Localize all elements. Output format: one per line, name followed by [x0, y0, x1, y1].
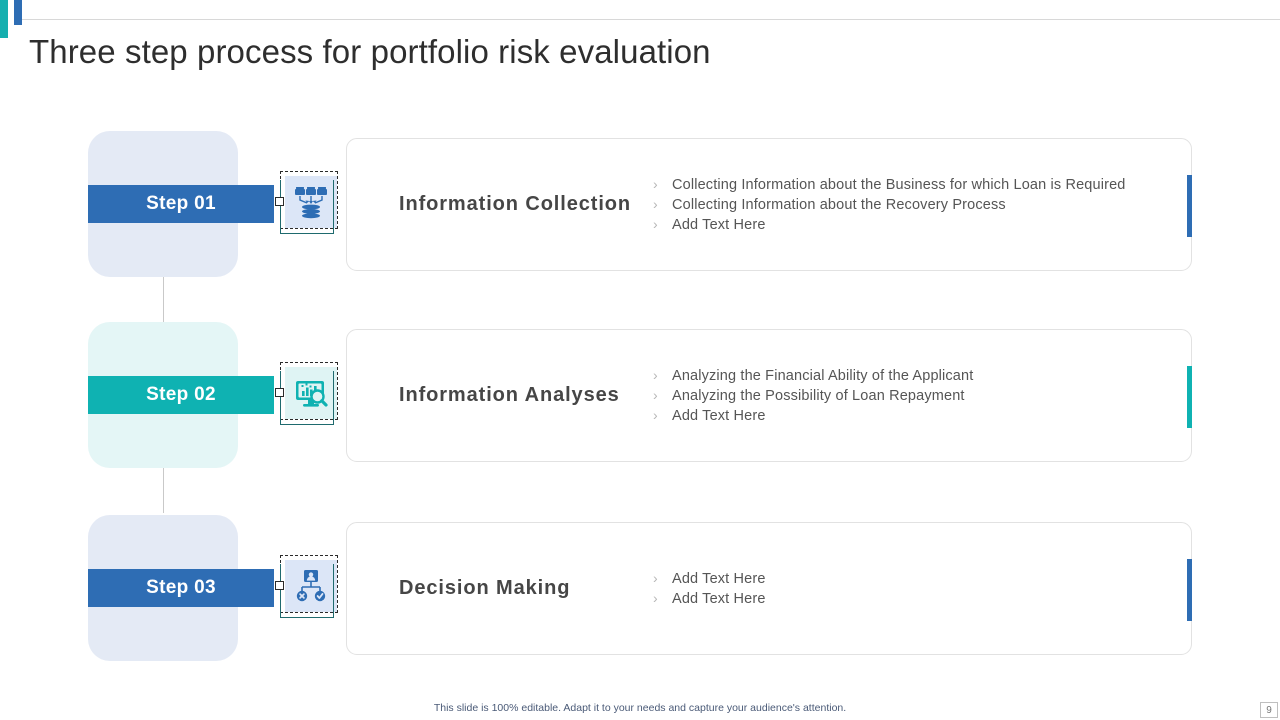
- chevron-right-icon: ›: [653, 406, 672, 425]
- list-item: › Add Text Here: [653, 406, 1191, 426]
- step-badge-label-2: Step 02: [146, 384, 216, 406]
- page-title: Three step process for portfolio risk ev…: [29, 33, 711, 71]
- bullet-text: Add Text Here: [672, 570, 766, 589]
- icon-resize-handle-1[interactable]: [275, 197, 284, 206]
- step-badge-label-1: Step 01: [146, 193, 216, 215]
- icon-resize-handle-3[interactable]: [275, 581, 284, 590]
- list-item: › Add Text Here: [653, 569, 1191, 589]
- footer-note: This slide is 100% editable. Adapt it to…: [0, 702, 1280, 714]
- step-icon-container-3[interactable]: [285, 560, 337, 612]
- step-content-card-1: Information Collection › Collecting Info…: [346, 138, 1192, 271]
- chevron-right-icon: ›: [653, 175, 672, 194]
- icon-selection-solid-border-1: [280, 180, 334, 234]
- chevron-right-icon: ›: [653, 569, 672, 588]
- step-bullet-list-1: › Collecting Information about the Busin…: [647, 175, 1191, 235]
- step-content-card-3: Decision Making › Add Text Here › Add Te…: [346, 522, 1192, 655]
- step-content-card-2: Information Analyses › Analyzing the Fin…: [346, 329, 1192, 462]
- list-item: › Analyzing the Financial Ability of the…: [653, 366, 1191, 386]
- bullet-text: Analyzing the Financial Ability of the A…: [672, 367, 973, 386]
- header-divider: [22, 19, 1280, 20]
- list-item: › Add Text Here: [653, 589, 1191, 609]
- list-item: › Analyzing the Possibility of Loan Repa…: [653, 386, 1191, 406]
- bullet-text: Add Text Here: [672, 407, 766, 426]
- step-badge-2[interactable]: Step 02: [88, 376, 274, 414]
- bullet-text: Collecting Information about the Recover…: [672, 196, 1006, 215]
- chevron-right-icon: ›: [653, 589, 672, 608]
- list-item: › Collecting Information about the Busin…: [653, 175, 1191, 195]
- page-number: 9: [1260, 702, 1278, 718]
- header-accent-bar-blue: [14, 0, 22, 25]
- card-accent-bar-1: [1187, 175, 1192, 237]
- step-bullet-list-2: › Analyzing the Financial Ability of the…: [647, 366, 1191, 426]
- step-bullet-list-3: › Add Text Here › Add Text Here: [647, 569, 1191, 609]
- header-accent-bar-teal: [0, 0, 8, 38]
- step-heading-2: Information Analyses: [347, 384, 647, 407]
- bullet-text: Collecting Information about the Busines…: [672, 176, 1126, 195]
- chevron-right-icon: ›: [653, 215, 672, 234]
- step-icon-container-1[interactable]: [285, 176, 337, 228]
- step-badge-1[interactable]: Step 01: [88, 185, 274, 223]
- step-row-1: Step 01: [0, 113, 1280, 293]
- icon-resize-handle-2[interactable]: [275, 388, 284, 397]
- step-row-3: Step 03: [0, 497, 1280, 677]
- bullet-text: Add Text Here: [672, 216, 766, 235]
- list-item: › Add Text Here: [653, 215, 1191, 235]
- chevron-right-icon: ›: [653, 195, 672, 214]
- icon-selection-solid-border-2: [280, 371, 334, 425]
- step-badge-3[interactable]: Step 03: [88, 569, 274, 607]
- chevron-right-icon: ›: [653, 366, 672, 385]
- step-heading-1: Information Collection: [347, 193, 647, 216]
- chevron-right-icon: ›: [653, 386, 672, 405]
- card-accent-bar-2: [1187, 366, 1192, 428]
- list-item: › Collecting Information about the Recov…: [653, 195, 1191, 215]
- step-heading-3: Decision Making: [347, 577, 647, 600]
- step-badge-label-3: Step 03: [146, 577, 216, 599]
- bullet-text: Analyzing the Possibility of Loan Repaym…: [672, 387, 965, 406]
- icon-selection-solid-border-3: [280, 564, 334, 618]
- step-icon-container-2[interactable]: [285, 367, 337, 419]
- bullet-text: Add Text Here: [672, 590, 766, 609]
- card-accent-bar-3: [1187, 559, 1192, 621]
- step-row-2: Step 02: [0, 304, 1280, 484]
